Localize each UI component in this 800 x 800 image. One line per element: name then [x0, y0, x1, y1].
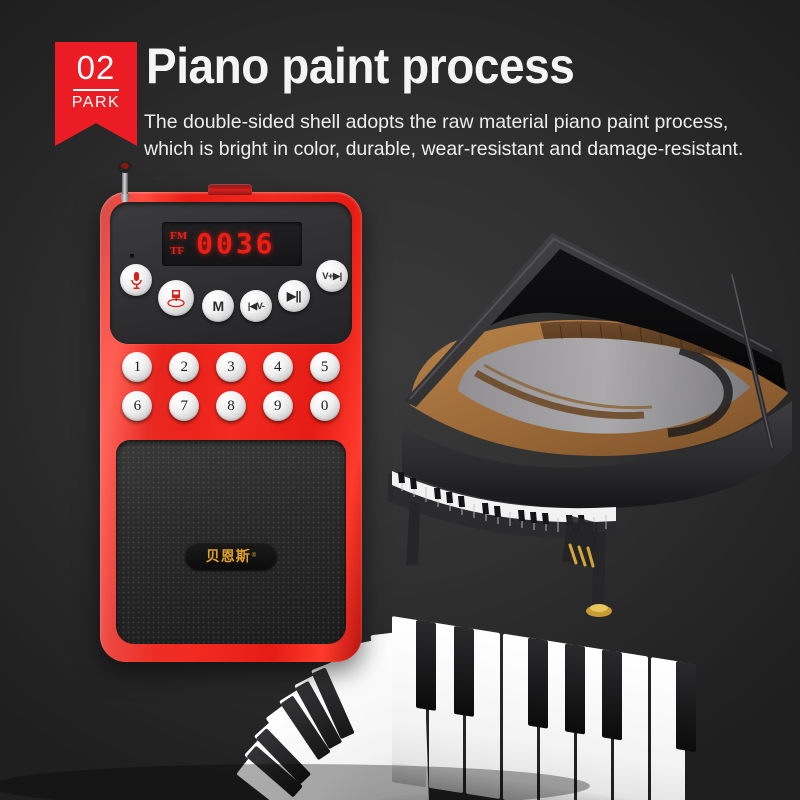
section-badge: 02 PARK [55, 42, 137, 146]
badge-label: PARK [55, 95, 137, 111]
record-radio-icon [166, 289, 186, 308]
control-panel: FM TF 0036 [110, 202, 352, 344]
play-pause-button[interactable]: ▶|| [278, 280, 310, 312]
badge-number: 02 [55, 42, 137, 84]
page-title: Piano paint process [146, 40, 574, 92]
band-indicators: FM TF [170, 229, 187, 259]
badge-divider [73, 89, 119, 91]
prev-volume-down-button[interactable]: |◀V- [240, 290, 272, 322]
play-button-label: ▶|| [287, 289, 301, 303]
key-1[interactable]: 1 [122, 352, 152, 382]
display-digits: 0036 [196, 230, 275, 258]
prev-button-label: |◀V- [248, 301, 265, 312]
next-volume-up-button[interactable]: V+▶| [316, 260, 348, 292]
microphone-icon [130, 271, 143, 289]
key-9[interactable]: 9 [263, 391, 293, 421]
mode-button-label: M [212, 298, 223, 314]
key-5[interactable]: 5 [310, 352, 340, 382]
header: 02 PARK Piano paint process The double-s… [0, 0, 800, 200]
page-subtitle: The double-sided shell adopts the raw ma… [144, 109, 764, 163]
next-button-label: V+▶| [322, 271, 341, 282]
portable-radio-device: FM TF 0036 [100, 192, 362, 662]
mic-pinhole-icon [130, 254, 134, 258]
fm-indicator: FM [170, 229, 187, 244]
trademark-symbol: ® [252, 553, 256, 559]
radio-shell: FM TF 0036 [100, 192, 362, 662]
brand-badge: 贝恩斯 ® [185, 542, 277, 570]
product-banner: FM TF 0036 [0, 0, 800, 800]
key-2[interactable]: 2 [169, 352, 199, 382]
key-6[interactable]: 6 [122, 391, 152, 421]
brand-name: 贝恩斯 [206, 546, 251, 566]
record-button[interactable] [158, 280, 194, 316]
numeric-keypad: 1 2 3 4 5 6 7 8 9 0 [114, 352, 348, 421]
mode-button[interactable]: M [202, 290, 234, 322]
mic-button[interactable] [120, 264, 152, 296]
speaker-grille: 贝恩斯 ® [116, 440, 346, 644]
key-8[interactable]: 8 [216, 391, 246, 421]
tf-indicator: TF [170, 244, 187, 259]
key-3[interactable]: 3 [216, 352, 246, 382]
key-7[interactable]: 7 [169, 391, 199, 421]
key-4[interactable]: 4 [263, 352, 293, 382]
led-display: FM TF 0036 [162, 222, 302, 266]
key-0[interactable]: 0 [310, 391, 340, 421]
